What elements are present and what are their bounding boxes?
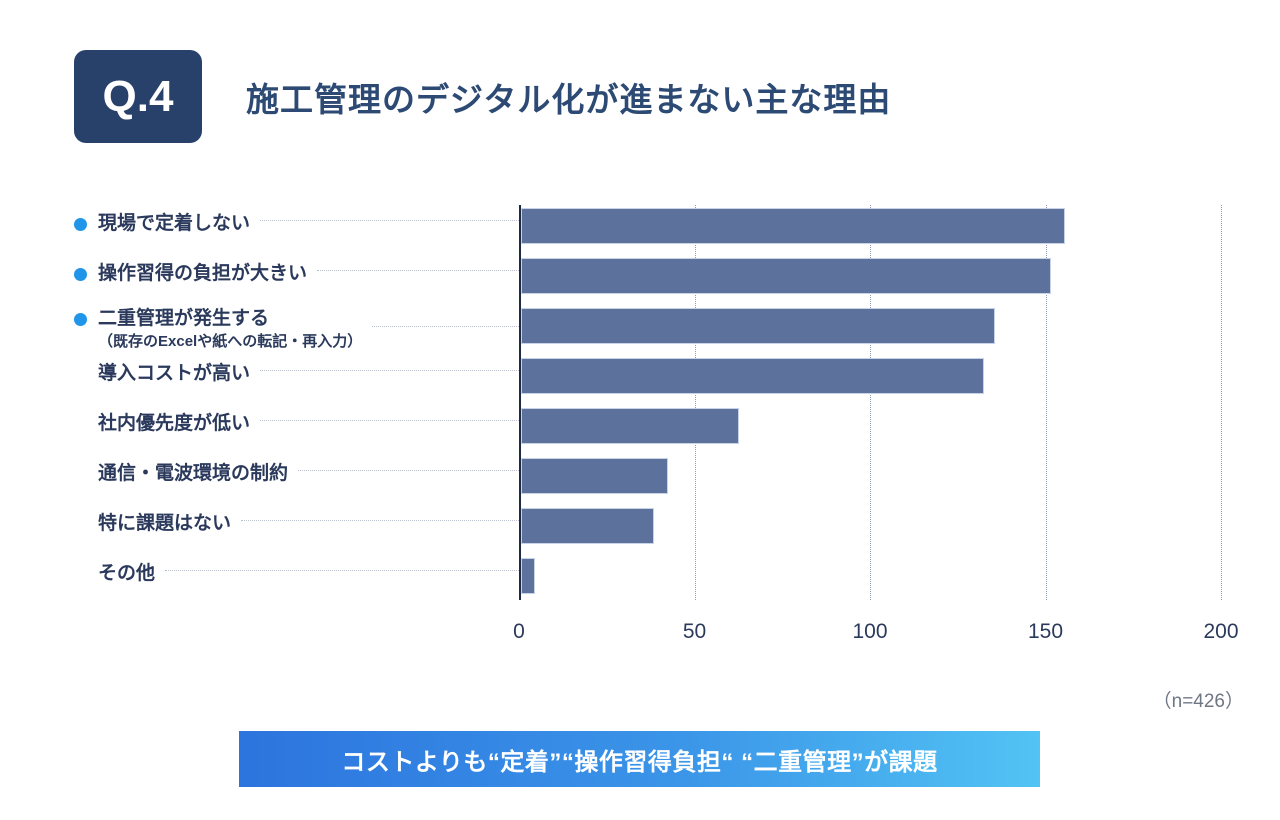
bar-chart: 現場で定着しない操作習得の負担が大きい二重管理が発生する（既存のExcelや紙へ… — [0, 195, 1280, 665]
leader-line — [317, 270, 519, 271]
bullet-dot-icon — [74, 218, 87, 231]
bar-6 — [521, 458, 668, 494]
category-label-text: 現場で定着しない — [98, 212, 250, 236]
chart-rows: 現場で定着しない操作習得の負担が大きい二重管理が発生する（既存のExcelや紙へ… — [0, 195, 1280, 665]
category-sublabel-text: （既存のExcelや紙への転記・再入力） — [98, 332, 362, 352]
summary-banner-text: コストよりも“定着”“操作習得負担“ “二重管理”が課題 — [341, 742, 937, 777]
x-tick-label-50: 50 — [683, 620, 706, 644]
category-label-text: 導入コストが高い — [98, 362, 250, 386]
category-label-text: その他 — [98, 562, 155, 586]
bar-2 — [521, 258, 1051, 294]
category-label-4: 導入コストが高い — [74, 362, 519, 386]
leader-line — [260, 420, 519, 421]
sample-size-note: （n=426） — [1153, 686, 1244, 713]
category-label-2: 操作習得の負担が大きい — [74, 262, 519, 286]
category-label-text: 特に課題はない — [98, 512, 231, 536]
bar-5 — [521, 408, 739, 444]
category-label-8: その他 — [74, 562, 519, 586]
category-label-text: 社内優先度が低い — [98, 412, 250, 436]
bar-1 — [521, 208, 1065, 244]
category-label-text: 操作習得の負担が大きい — [98, 262, 307, 286]
leader-line — [260, 220, 519, 221]
leader-line — [260, 370, 519, 371]
bullet-dot-icon — [74, 268, 87, 281]
category-label-text: 二重管理が発生する — [98, 307, 362, 331]
leader-line — [372, 326, 519, 327]
x-tick-label-200: 200 — [1203, 620, 1238, 644]
leader-line — [241, 520, 519, 521]
header: Q.4 施工管理のデジタル化が進まない主な理由 — [74, 50, 891, 143]
bar-4 — [521, 358, 984, 394]
x-tick-label-100: 100 — [852, 620, 887, 644]
bar-8 — [521, 558, 535, 594]
bar-3 — [521, 308, 995, 344]
category-label-5: 社内優先度が低い — [74, 412, 519, 436]
x-tick-label-0: 0 — [513, 620, 525, 644]
category-label-1: 現場で定着しない — [74, 212, 519, 236]
category-label-6: 通信・電波環境の制約 — [74, 462, 519, 486]
leader-line — [298, 470, 519, 471]
summary-banner: コストよりも“定着”“操作習得負担“ “二重管理”が課題 — [239, 731, 1040, 787]
bullet-dot-icon — [74, 313, 87, 326]
x-axis-ticks: 050100150200 — [0, 620, 1280, 660]
category-label-text: 通信・電波環境の制約 — [98, 462, 288, 486]
page-title: 施工管理のデジタル化が進まない主な理由 — [246, 73, 891, 121]
bar-7 — [521, 508, 654, 544]
category-label-7: 特に課題はない — [74, 512, 519, 536]
question-number-badge: Q.4 — [74, 50, 202, 143]
leader-line — [165, 570, 519, 571]
x-tick-label-150: 150 — [1028, 620, 1063, 644]
category-label-3: 二重管理が発生する（既存のExcelや紙への転記・再入力） — [74, 307, 519, 351]
